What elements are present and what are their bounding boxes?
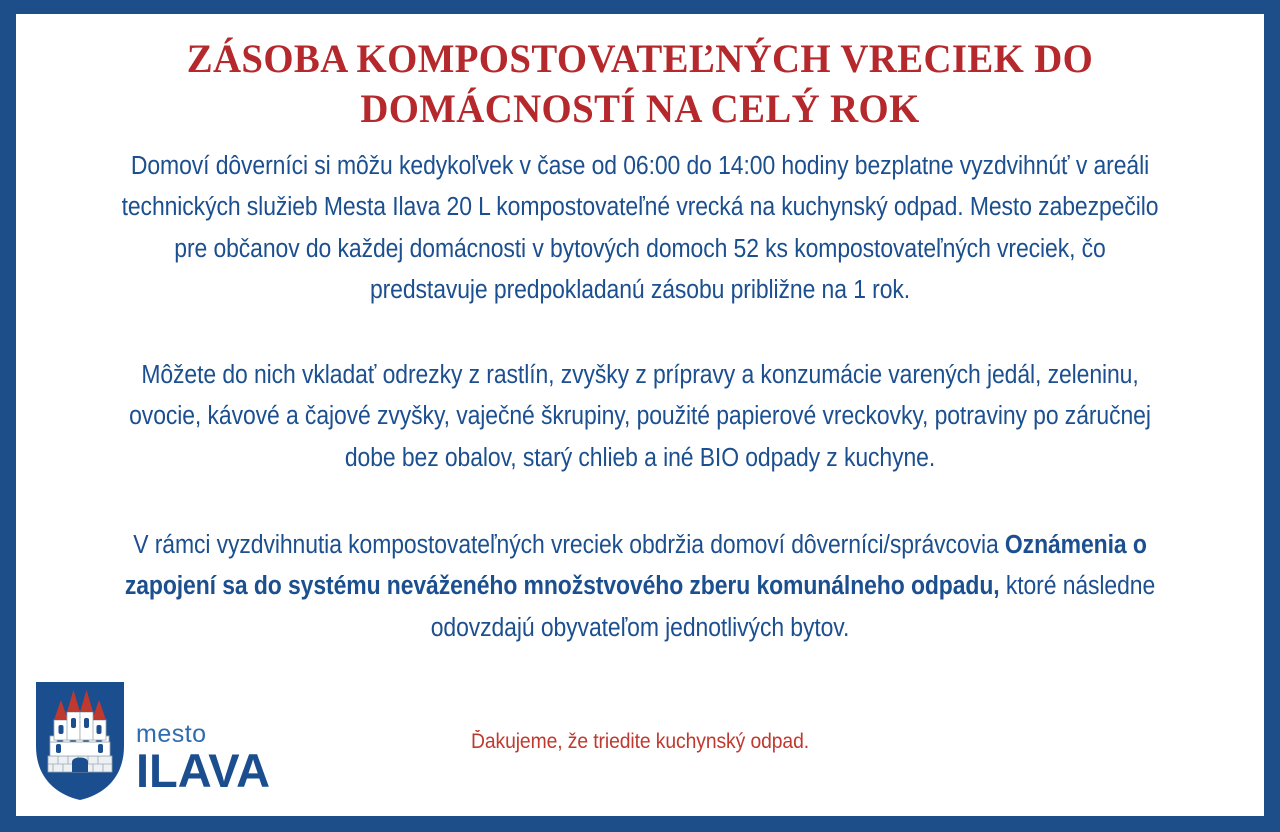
title-line-1: ZÁSOBA KOMPOSTOVATEĽNÝCH VRECIEK DO — [93, 34, 1187, 84]
paragraph-notices: V rámci vyzdvihnutia kompostovateľných v… — [122, 525, 1159, 649]
logo-wordmark: mesto ILAVA — [136, 722, 270, 802]
body-content: Domoví dôverníci si môžu kedykoľvek v ča… — [16, 134, 1264, 649]
city-logo: mesto ILAVA — [34, 680, 270, 802]
logo-city-label: ILAVA — [136, 749, 270, 792]
title-line-2: DOMÁCNOSTÍ NA CELÝ ROK — [93, 84, 1187, 134]
poster-frame: ZÁSOBA KOMPOSTOVATEĽNÝCH VRECIEK DO DOMÁ… — [0, 0, 1280, 832]
page-title: ZÁSOBA KOMPOSTOVATEĽNÝCH VRECIEK DO DOMÁ… — [16, 14, 1264, 134]
paragraph-accepted-waste: Môžete do nich vkladať odrezky z rastlín… — [122, 355, 1159, 479]
paragraph-availability: Domoví dôverníci si môžu kedykoľvek v ča… — [122, 146, 1159, 311]
poster-sheet: ZÁSOBA KOMPOSTOVATEĽNÝCH VRECIEK DO DOMÁ… — [16, 14, 1264, 816]
paragraph-notices-lead: V rámci vyzdvihnutia kompostovateľných v… — [133, 531, 1005, 559]
coat-of-arms-icon — [34, 680, 126, 802]
